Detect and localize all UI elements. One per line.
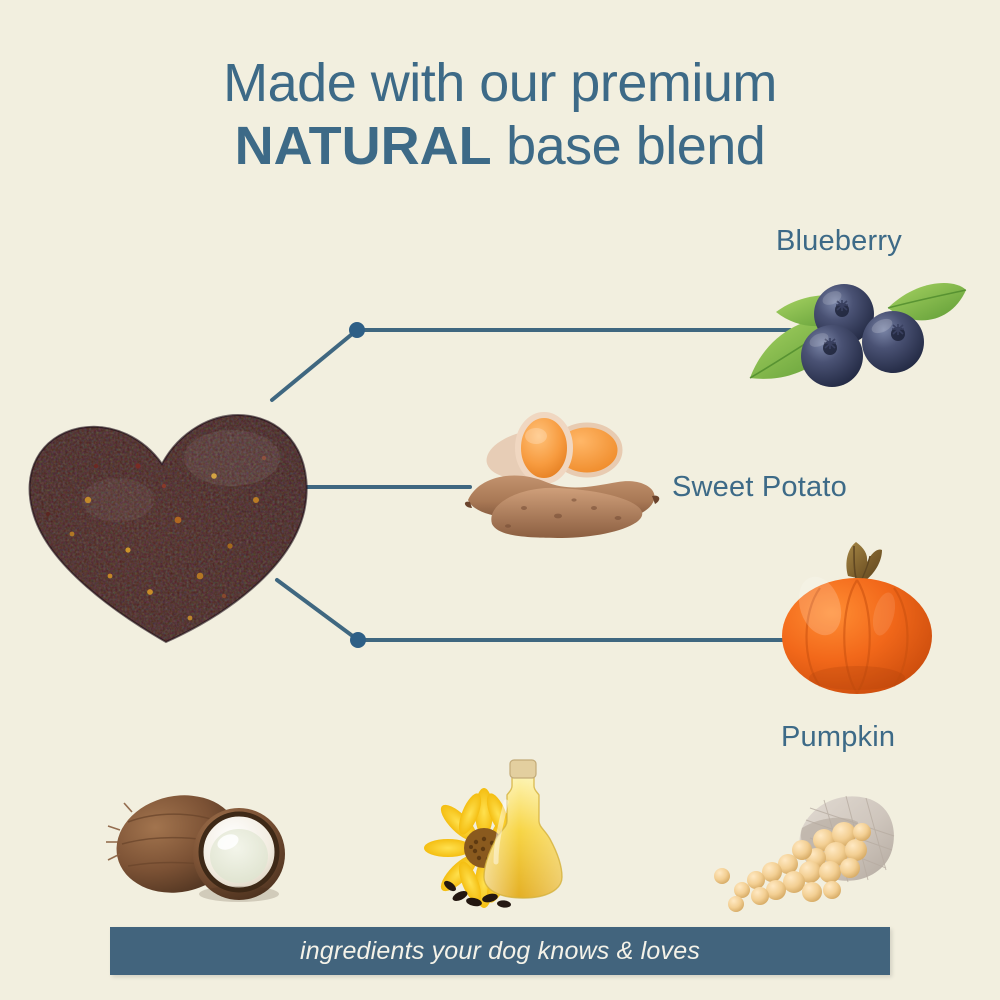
tagline-text: ingredients your dog knows & loves: [300, 937, 700, 966]
coconut-icon: [106, 782, 286, 907]
connector-dot-blueberry: [349, 322, 365, 338]
heading-emphasis: NATURAL: [235, 116, 492, 176]
heading-line-2: NATURAL base blend: [0, 115, 1000, 178]
heart-treat-icon: [18, 380, 318, 660]
connector-blueberry: [272, 330, 790, 400]
ingredient-label-blueberry: Blueberry: [776, 225, 902, 258]
connector-dot-pumpkin: [350, 632, 366, 648]
page-title: Made with our premium NATURAL base blend: [0, 52, 1000, 177]
promo-graphic: Made with our premium NATURAL base blend: [0, 0, 1000, 1000]
heading-line-1: Made with our premium: [0, 52, 1000, 115]
tagline-banner: ingredients your dog knows & loves: [110, 927, 890, 975]
chickpeas-sack-icon: [706, 784, 901, 909]
blueberry-icon: [740, 272, 970, 402]
connector-pumpkin: [277, 580, 785, 640]
sweet-potato-icon: [462, 412, 662, 542]
sunflower-oil-icon: [444, 756, 604, 908]
ingredient-label-sweet-potato: Sweet Potato: [672, 471, 847, 504]
pumpkin-icon: [772, 536, 942, 696]
ingredient-label-pumpkin: Pumpkin: [781, 721, 895, 754]
heading-line-2-rest: base blend: [492, 116, 766, 176]
